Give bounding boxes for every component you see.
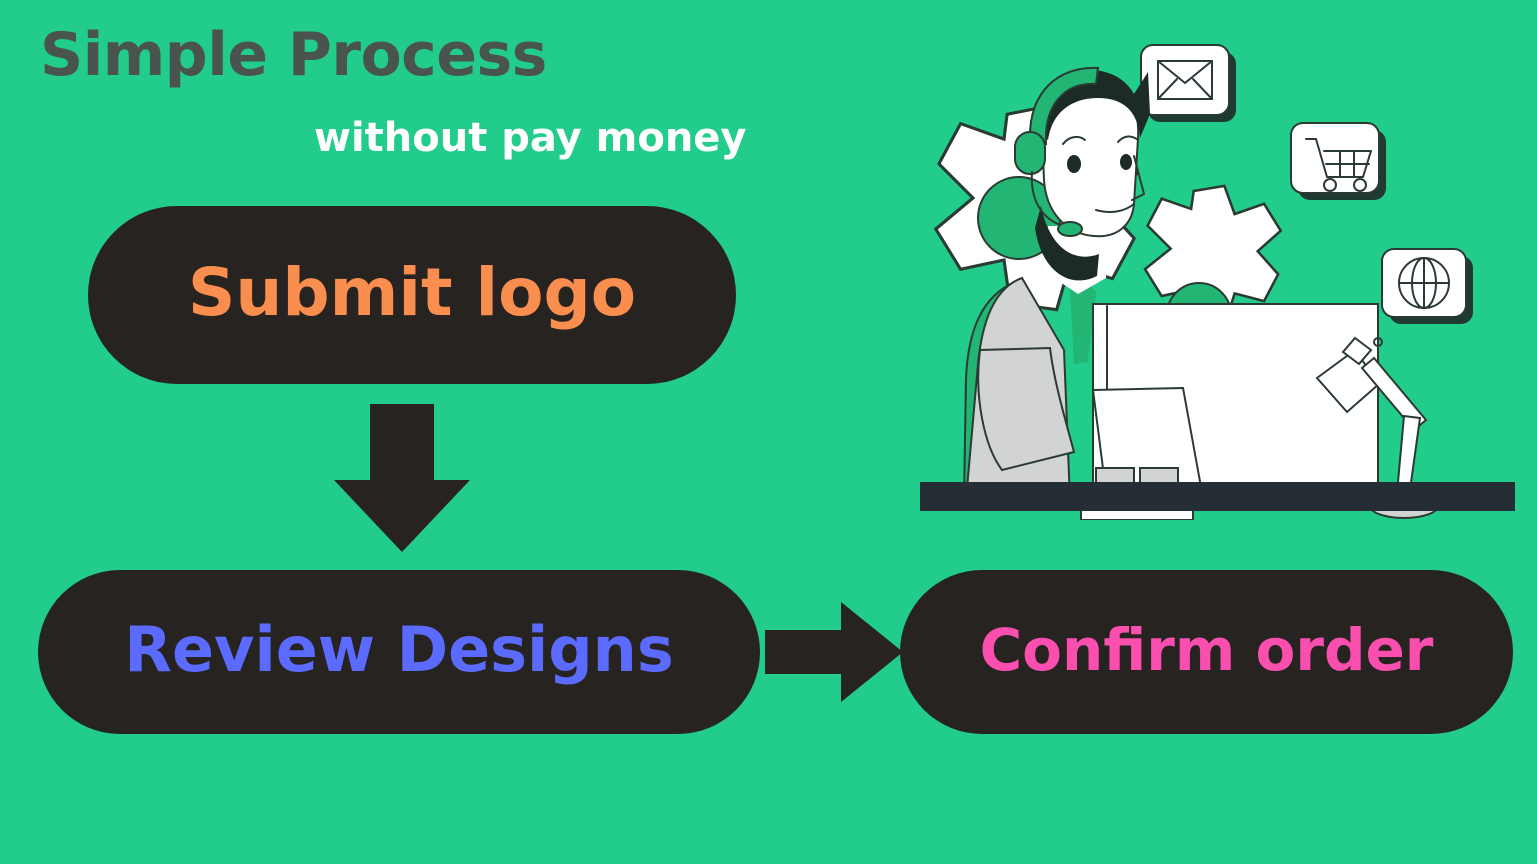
page-subtitle: without pay money xyxy=(314,115,747,161)
support-agent-illustration: .w { fill:#ffffff; stroke:#2b3a33; strok… xyxy=(900,20,1537,520)
step-button-submit-logo[interactable]: Submit logo xyxy=(88,206,736,384)
shopping-cart-icon-card xyxy=(1291,123,1386,200)
desk-surface xyxy=(920,482,1515,511)
step-button-review-designs[interactable]: Review Designs xyxy=(38,570,760,734)
page-title: Simple Process xyxy=(40,22,547,88)
globe-icon-card xyxy=(1382,249,1473,324)
step-button-label: Confirm order xyxy=(980,621,1434,679)
step-button-label: Review Designs xyxy=(124,619,673,681)
step-button-label: Submit logo xyxy=(188,260,636,326)
mail-icon-card xyxy=(1141,45,1236,122)
simple-process-banner: Simple Process without pay money Submit … xyxy=(0,0,1537,864)
step-button-confirm-order[interactable]: Confirm order xyxy=(900,570,1513,734)
arrow-right-icon xyxy=(765,602,903,702)
arrow-down-icon xyxy=(334,404,470,552)
